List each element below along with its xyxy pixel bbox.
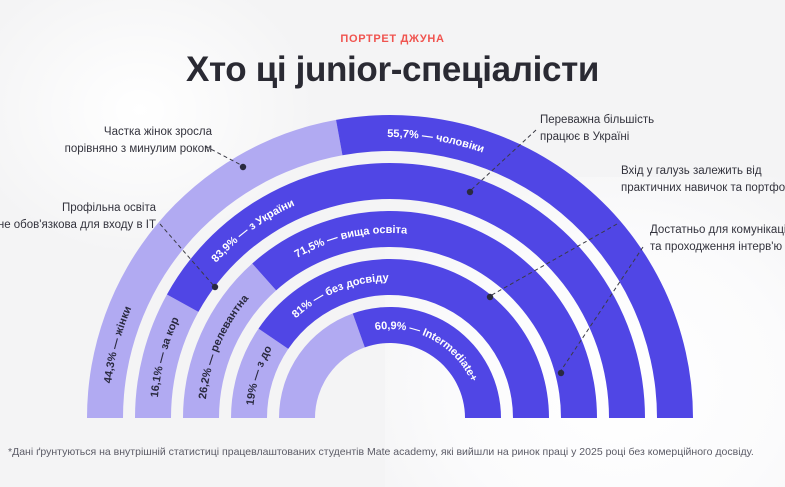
annotation-skills-portfolio: Вхід у галузь залежить від практичних на… (621, 163, 785, 196)
annotation-skills-portfolio-line1: Вхід у галузь залежить від (621, 163, 785, 180)
annotation-english-enough: Достатньо для комунікації та проходження… (650, 222, 785, 255)
annotation-mostly-ukraine-line2: працює в Україні (540, 129, 654, 146)
footnote: *Дані ґрунтуються на внутрішній статисти… (8, 446, 778, 458)
annotation-mostly-ukraine-line1: Переважна більшість (540, 112, 654, 129)
annotation-skills-portfolio-line2: практичних навичок та портфоліо (621, 180, 785, 197)
annotation-women-growth-line1: Частка жінок зросла (0, 124, 212, 141)
annotation-english-enough-line1: Достатньо для комунікації (650, 222, 785, 239)
annotation-women-growth-line2: порівняно з минулим роком (0, 141, 212, 158)
arc-bands (87, 115, 693, 418)
annotation-english-enough-line2: та проходження інтерв'ю (650, 239, 785, 256)
annotation-education-optional-line1: Профільна освіта (0, 200, 156, 217)
infographic-canvas: ПОРТРЕТ ДЖУНА Хто ці junior-спеціалісти … (0, 0, 785, 487)
annotation-mostly-ukraine: Переважна більшість працює в Україні (540, 112, 654, 145)
annotation-women-growth: Частка жінок зросла порівняно з минулим … (0, 124, 212, 157)
annotation-education-optional: Профільна освіта не обов'язкова для вход… (0, 200, 156, 233)
annotation-education-optional-line2: не обов'язкова для входу в ІТ (0, 217, 156, 234)
